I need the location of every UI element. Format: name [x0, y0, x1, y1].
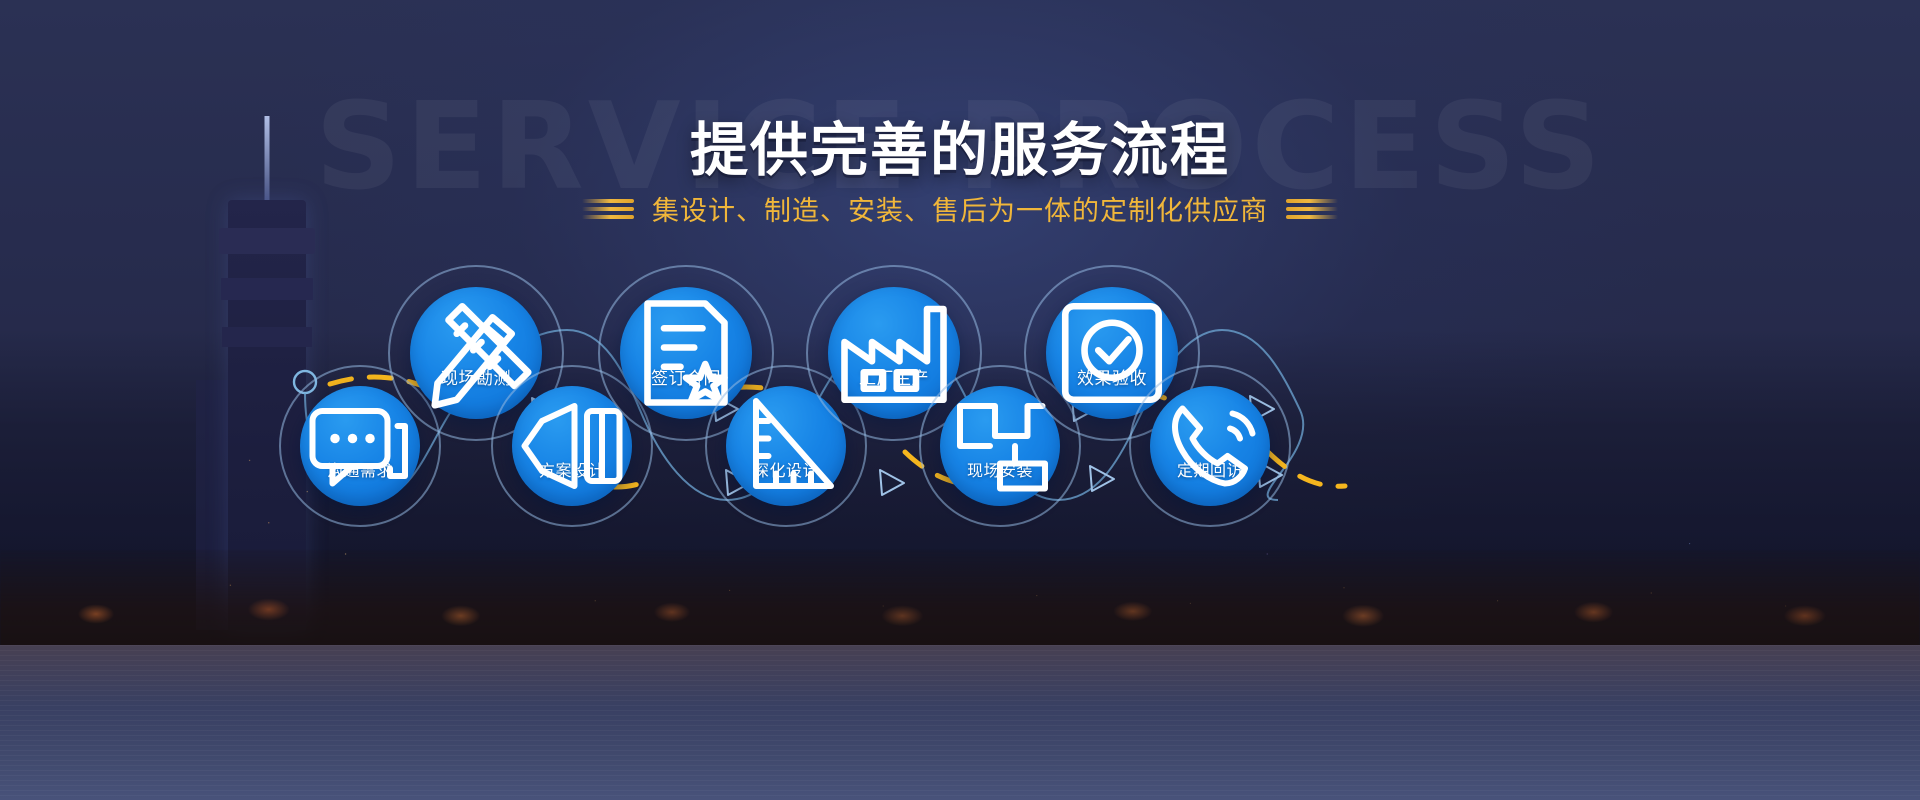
- factory-icon: [873, 318, 915, 360]
- set-square-icon: [765, 411, 807, 453]
- ruler-pencil-icon: [455, 318, 497, 360]
- service-process-flow: 沟通需求 现场勘测: [0, 0, 1920, 800]
- step-disc[interactable]: 沟通需求: [300, 386, 420, 506]
- arrow-4-icon: [880, 470, 904, 495]
- step-disc[interactable]: 定期回访: [1150, 386, 1270, 506]
- install-tool-icon: [979, 411, 1021, 453]
- contract-document-icon: [665, 318, 707, 360]
- checked-document-icon: [1091, 318, 1133, 360]
- chat-bubble-icon: [339, 411, 381, 453]
- phone-call-icon: [1189, 411, 1231, 453]
- design-layout-icon: [551, 411, 593, 453]
